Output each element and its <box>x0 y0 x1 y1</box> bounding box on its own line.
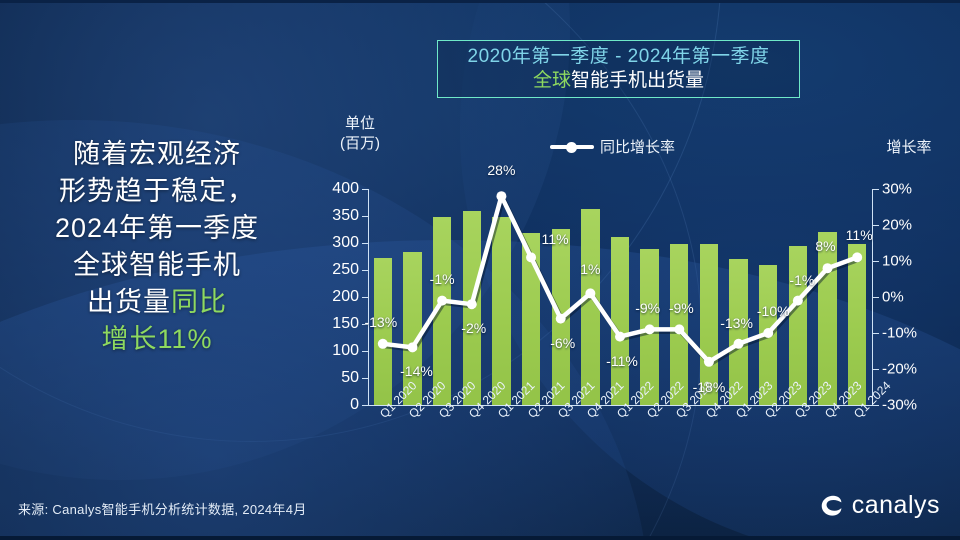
line-data-label: -1% <box>430 271 455 287</box>
growth-line-marker <box>615 332 625 342</box>
chart-title-box: 2020年第一季度 - 2024年第一季度 全球智能手机出货量 <box>437 40 800 98</box>
right-axis-tick-label: 0% <box>882 289 904 306</box>
headline-line-5: 出货量同比 <box>18 284 296 321</box>
left-axis-tick-label: 100 <box>332 342 359 360</box>
growth-line-marker <box>407 342 417 352</box>
line-data-label: -18% <box>693 379 726 395</box>
headline-line-2: 形势趋于稳定， <box>18 173 296 210</box>
line-data-label: -13% <box>720 315 753 331</box>
left-axis-title-line1: 单位 <box>320 114 400 134</box>
growth-line-marker <box>496 191 506 201</box>
line-data-label: -13% <box>364 314 397 330</box>
growth-line-series <box>368 189 872 405</box>
left-axis-title: 单位 (百万) <box>320 114 400 154</box>
growth-line-marker <box>823 263 833 273</box>
bottom-border-line <box>0 536 960 540</box>
line-data-label: 28% <box>487 162 515 178</box>
left-axis-tick-label: 0 <box>350 396 359 414</box>
left-axis-tick-label: 300 <box>332 234 359 252</box>
canalys-mark-icon <box>819 493 845 519</box>
legend-label: 同比增长率 <box>600 136 675 157</box>
right-axis-tick <box>873 297 879 298</box>
left-axis-tick-label: 50 <box>341 369 359 387</box>
line-data-label: 8% <box>815 238 835 254</box>
chart-legend: 同比增长率 <box>550 136 675 157</box>
line-data-label: 11% <box>846 227 873 243</box>
line-data-label: -10% <box>757 303 790 319</box>
right-axis-tick-label: 30% <box>882 181 912 198</box>
growth-line-marker <box>645 324 655 334</box>
title-subject-green: 全球 <box>533 70 571 91</box>
left-axis-title-line2: (百万) <box>320 134 400 154</box>
growth-line-marker <box>437 296 447 306</box>
right-axis-title: 增长率 <box>864 136 954 157</box>
left-axis-tick <box>362 405 368 406</box>
canalys-logo: canalys <box>819 491 940 520</box>
growth-line-marker <box>763 328 773 338</box>
right-axis-tick <box>873 333 879 334</box>
right-axis-tick-label: -30% <box>882 397 917 414</box>
chart-container: 单位 (百万) 增长率 同比增长率 4003503002502001501005… <box>300 110 960 490</box>
line-data-label: 11% <box>542 231 569 247</box>
left-axis-tick-label: 250 <box>332 261 359 279</box>
headline-line-3: 2024年第一季度 <box>18 210 296 247</box>
growth-line-marker <box>793 296 803 306</box>
right-axis-tick <box>873 225 879 226</box>
plot-area: 400350300250200150100500 30%20%10%0%-10%… <box>368 189 872 405</box>
line-data-label: -14% <box>400 363 433 379</box>
left-axis-tick-label: 150 <box>332 315 359 333</box>
headline-line-6: 增长11% <box>18 321 296 358</box>
line-data-label: 1% <box>580 261 600 277</box>
source-note: 来源: Canalys智能手机分析统计数据, 2024年4月 <box>18 499 307 518</box>
line-data-label: -6% <box>550 335 575 351</box>
legend-line-marker-icon <box>550 142 594 152</box>
growth-line-marker <box>704 357 714 367</box>
left-axis-tick-label: 350 <box>332 207 359 225</box>
right-axis-tick <box>873 261 879 262</box>
right-axis-tick-label: -20% <box>882 361 917 378</box>
growth-line-marker <box>734 339 744 349</box>
growth-line-marker <box>674 324 684 334</box>
headline-line-1: 随着宏观经济 <box>18 136 296 173</box>
title-subject: 全球智能手机出货量 <box>533 69 704 93</box>
headline-line-5-green: 同比 <box>171 287 227 317</box>
left-axis-tick-label: 200 <box>332 288 359 306</box>
title-subject-white: 智能手机出货量 <box>571 70 704 91</box>
line-data-label: -11% <box>606 353 638 369</box>
headline-text: 随着宏观经济 形势趋于稳定， 2024年第一季度 全球智能手机 出货量同比 增长… <box>18 136 296 358</box>
growth-line-marker <box>526 252 536 262</box>
right-axis-tick-label: 20% <box>882 217 912 234</box>
headline-line-4: 全球智能手机 <box>18 247 296 284</box>
growth-line-marker <box>467 299 477 309</box>
left-axis-tick-label: 400 <box>332 180 359 198</box>
title-period: 2020年第一季度 - 2024年第一季度 <box>468 45 770 69</box>
right-axis-tick <box>873 369 879 370</box>
line-data-label: -9% <box>635 300 660 316</box>
right-axis-tick-label: -10% <box>882 325 917 342</box>
line-data-label: -9% <box>669 300 694 316</box>
growth-line-marker <box>378 339 388 349</box>
headline-line-5-white: 出货量 <box>87 287 171 317</box>
top-border-line <box>0 0 960 3</box>
right-axis-tick-label: 10% <box>882 253 912 270</box>
right-axis-tick <box>873 189 879 190</box>
line-data-label: -2% <box>461 320 486 336</box>
growth-line-marker <box>585 288 595 298</box>
line-data-label: -1% <box>789 272 814 288</box>
growth-line-marker <box>556 314 566 324</box>
growth-line-marker <box>852 252 862 262</box>
canalys-wordmark: canalys <box>852 491 940 520</box>
